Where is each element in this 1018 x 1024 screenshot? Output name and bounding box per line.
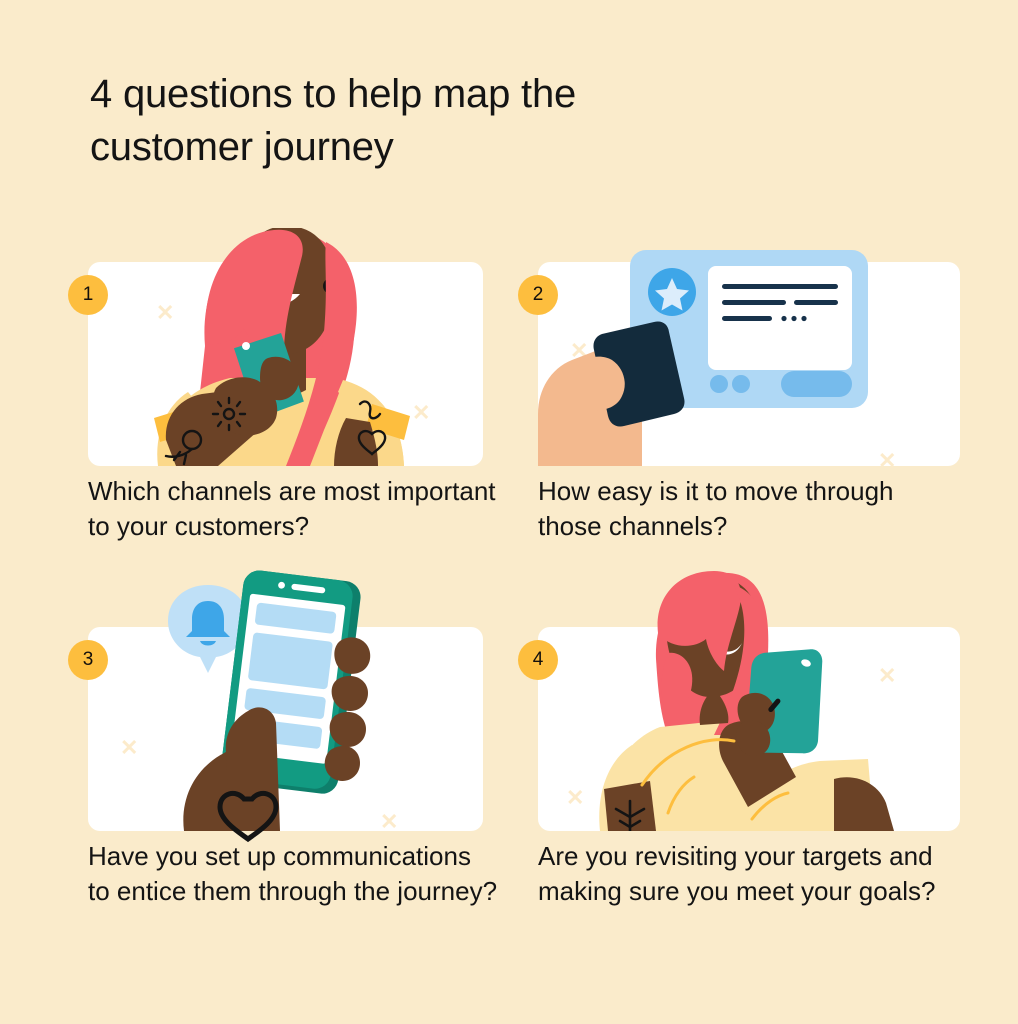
card-2-number-badge: 2: [518, 275, 558, 315]
decorative-x-icon: ✕: [380, 811, 398, 833]
decorative-x-icon: ✕: [570, 340, 588, 362]
card-1-caption: Which channels are most important to you…: [88, 474, 498, 544]
card-3-caption: Have you set up communications to entice…: [88, 839, 498, 909]
decorative-x-icon: ✕: [566, 787, 584, 809]
card-4-illustration: [538, 593, 960, 831]
card-3-number-badge: 3: [68, 640, 108, 680]
card-3-panel: 3 ✕ ✕: [88, 627, 483, 831]
page-title: 4 questions to help map the customer jou…: [90, 68, 730, 174]
decorative-x-icon: ✕: [878, 450, 896, 472]
card-3-illustration: [88, 593, 483, 831]
card-4: 4 ✕ ✕: [538, 593, 960, 831]
card-1: 1 ✕ ✕: [88, 228, 483, 466]
card-3: 3 ✕ ✕: [88, 593, 483, 831]
card-4-caption: Are you revisiting your targets and maki…: [538, 839, 948, 909]
card-1-illustration: [88, 228, 483, 466]
card-1-panel: 1 ✕ ✕: [88, 262, 483, 466]
card-2-panel: 2 ✕ ✕: [538, 262, 960, 466]
infographic-page: 4 questions to help map the customer jou…: [0, 0, 1018, 1024]
decorative-x-icon: ✕: [878, 665, 896, 687]
decorative-x-icon: ✕: [120, 737, 138, 759]
card-4-number-badge: 4: [518, 640, 558, 680]
card-2-caption: How easy is it to move through those cha…: [538, 474, 948, 544]
decorative-x-icon: ✕: [412, 402, 430, 424]
decorative-x-icon: ✕: [156, 302, 174, 324]
card-1-number-badge: 1: [68, 275, 108, 315]
card-2-illustration: [538, 228, 960, 466]
card-2: 2 ✕ ✕: [538, 228, 960, 466]
card-4-panel: 4 ✕ ✕: [538, 627, 960, 831]
